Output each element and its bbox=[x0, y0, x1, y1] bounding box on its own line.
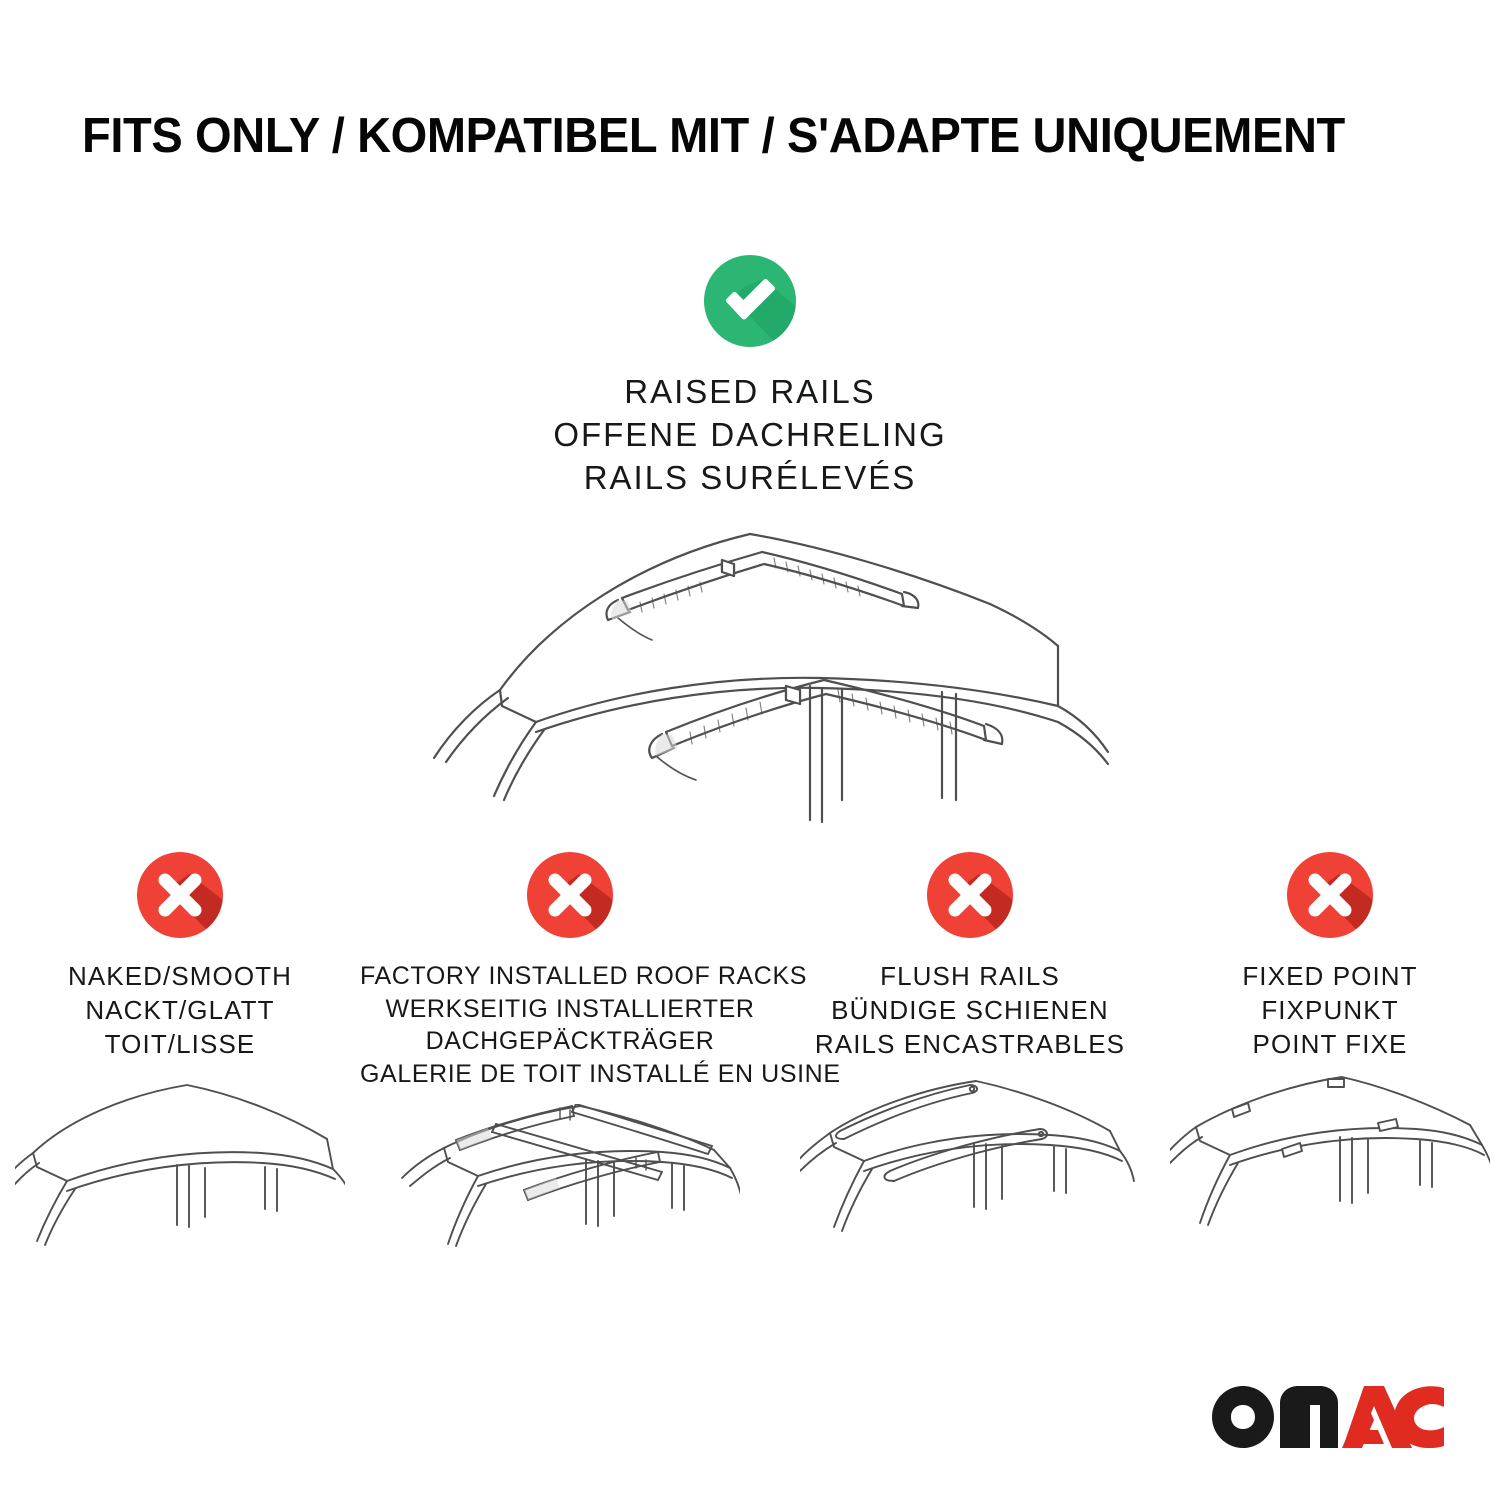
cross-icon-shadow bbox=[927, 852, 1013, 938]
compatible-labels: RAISED RAILS OFFENE DACHRELING RAILS SUR… bbox=[0, 371, 1500, 500]
label-line-fr: POINT FIXE bbox=[1160, 1028, 1500, 1062]
cross-icon-shadow bbox=[527, 852, 613, 938]
naked-smooth-labels: NAKED/SMOOTH NACKT/GLATT TOIT/LISSE bbox=[0, 960, 360, 1061]
incompatible-section-naked-smooth: NAKED/SMOOTH NACKT/GLATT TOIT/LISSE bbox=[0, 852, 360, 1334]
incompatible-sections: NAKED/SMOOTH NACKT/GLATT TOIT/LISSE bbox=[0, 852, 1500, 1334]
compatible-label-en: RAISED RAILS bbox=[0, 371, 1500, 414]
car-roof-flush-rails-illustration bbox=[780, 1075, 1160, 1305]
incompatible-section-factory-roof-racks: FACTORY INSTALLED ROOF RACKS WERKSEITIG … bbox=[360, 852, 780, 1334]
page-title: FITS ONLY / KOMPATIBEL MIT / S'ADAPTE UN… bbox=[82, 108, 1345, 164]
label-line-de: FIXPUNKT bbox=[1160, 994, 1500, 1028]
cross-circle-icon bbox=[137, 852, 223, 938]
check-circle-icon bbox=[704, 255, 796, 347]
cross-circle-icon bbox=[1287, 852, 1373, 938]
car-roof-naked-smooth-illustration bbox=[0, 1075, 360, 1305]
car-roof-with-raised-rails-illustration bbox=[390, 500, 1120, 850]
cross-circle-icon bbox=[527, 852, 613, 938]
label-line-de-1: WERKSEITIG INSTALLIERTER bbox=[360, 993, 780, 1026]
incompatible-section-fixed-point: FIXED POINT FIXPUNKT POINT FIXE bbox=[1160, 852, 1500, 1334]
cross-circle-icon bbox=[927, 852, 1013, 938]
cross-icon-shadow bbox=[1287, 852, 1373, 938]
label-line-en: FIXED POINT bbox=[1160, 960, 1500, 994]
cross-icon-shadow bbox=[137, 852, 223, 938]
label-line-de: NACKT/GLATT bbox=[0, 994, 360, 1028]
check-icon-shadow bbox=[704, 255, 796, 347]
compatible-label-fr: RAILS SURÉLEVÉS bbox=[0, 457, 1500, 500]
label-line-en: NAKED/SMOOTH bbox=[0, 960, 360, 994]
label-line-de-2: DACHGEPÄCKTRÄGER bbox=[360, 1025, 780, 1058]
compatible-section: RAISED RAILS OFFENE DACHRELING RAILS SUR… bbox=[0, 255, 1500, 500]
factory-roof-racks-labels: FACTORY INSTALLED ROOF RACKS WERKSEITIG … bbox=[360, 960, 780, 1090]
label-line-fr: RAILS ENCASTRABLES bbox=[780, 1028, 1160, 1062]
flush-rails-labels: FLUSH RAILS BÜNDIGE SCHIENEN RAILS ENCAS… bbox=[780, 960, 1160, 1061]
label-line-fr: GALERIE DE TOIT INSTALLÉ EN USINE bbox=[360, 1058, 780, 1091]
label-line-en: FLUSH RAILS bbox=[780, 960, 1160, 994]
label-line-en: FACTORY INSTALLED ROOF RACKS bbox=[360, 960, 780, 993]
omac-logo bbox=[1212, 1386, 1444, 1448]
label-line-fr: TOIT/LISSE bbox=[0, 1028, 360, 1062]
fixed-point-labels: FIXED POINT FIXPUNKT POINT FIXE bbox=[1160, 960, 1500, 1061]
label-line-de: BÜNDIGE SCHIENEN bbox=[780, 994, 1160, 1028]
car-roof-fixed-point-illustration bbox=[1160, 1075, 1500, 1305]
compatible-label-de: OFFENE DACHRELING bbox=[0, 414, 1500, 457]
incompatible-section-flush-rails: FLUSH RAILS BÜNDIGE SCHIENEN RAILS ENCAS… bbox=[780, 852, 1160, 1334]
car-roof-factory-roof-racks-illustration bbox=[360, 1104, 780, 1334]
